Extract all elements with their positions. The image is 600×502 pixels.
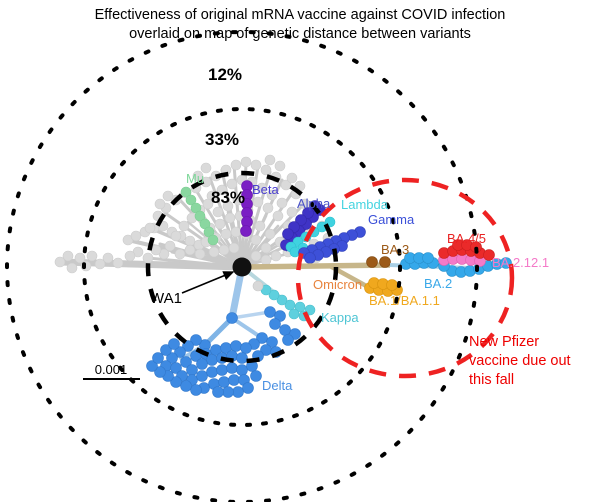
annotation-line-3: this fall: [469, 372, 514, 388]
label-mu: Mu: [186, 171, 204, 186]
figure-root: Effectiveness of original mRNA vaccine a…: [0, 0, 600, 502]
label-kappa: Kappa: [321, 310, 359, 325]
label-lambda: Lambda: [341, 197, 389, 212]
label-ba1-ba11: BA.1/BA.1.1: [369, 293, 440, 308]
efficacy-label-33: 33%: [205, 130, 239, 149]
label-wa1: WA1: [150, 290, 182, 307]
label-beta: Beta: [252, 182, 280, 197]
phylogenetic-tree-canvas: 12% 33% 83% WA1 Mu Beta Alpha Lambda Gam…: [0, 0, 600, 502]
efficacy-label-83: 83%: [211, 188, 245, 207]
wa1-pointer-arrow: [182, 272, 233, 293]
label-ba2: BA.2: [424, 276, 452, 291]
annotation-line-1: New Pfizer: [469, 334, 539, 350]
label-ba3: BA.3: [381, 242, 409, 257]
label-omicron: Omicron: [313, 277, 362, 292]
label-gamma: Gamma: [368, 212, 415, 227]
label-ba45: BA.4/5: [447, 231, 486, 246]
annotation-line-2: vaccine due out: [469, 353, 571, 369]
label-delta: Delta: [262, 378, 293, 393]
label-ba2121: BA.2.12.1: [492, 255, 549, 270]
label-alpha: Alpha: [297, 196, 331, 211]
root-node-wa1: [233, 258, 252, 277]
efficacy-label-12: 12%: [208, 65, 242, 84]
scale-bar-label: 0.001: [95, 362, 128, 377]
